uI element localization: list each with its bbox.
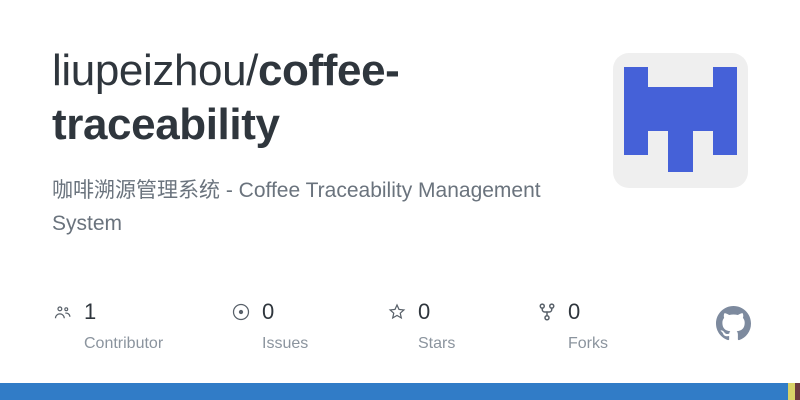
issue-opened-icon	[230, 301, 252, 323]
repo-forked-icon	[536, 301, 558, 323]
repo-owner: liupeizhou	[52, 46, 246, 95]
stat-stars: 0 Stars	[386, 298, 486, 353]
stat-issues-top: 0	[230, 298, 274, 326]
stat-forks-top: 0	[536, 298, 580, 326]
star-icon	[386, 301, 408, 323]
bottom-bar-primary-segment	[0, 383, 788, 400]
stat-contributors-value: 1	[84, 301, 96, 323]
repo-name-separator: /	[246, 46, 258, 95]
stat-stars-value: 0	[418, 301, 430, 323]
repo-stats: 1 Contributor 0 Issues	[52, 298, 626, 353]
avatar	[613, 53, 748, 188]
github-mark-icon	[716, 306, 751, 341]
page-title: liupeizhou/coffee-traceability	[52, 44, 597, 152]
bottom-bar-accent-segment	[788, 383, 795, 400]
bottom-accent-bar	[0, 383, 800, 400]
stat-forks-label: Forks	[568, 335, 608, 353]
stat-contributors: 1 Contributor	[52, 298, 180, 353]
stat-issues-label: Issues	[262, 335, 308, 353]
repository-social-preview-card: liupeizhou/coffee-traceability 咖啡溯源管理系统 …	[0, 0, 800, 400]
people-icon	[52, 301, 74, 323]
repo-description: 咖啡溯源管理系统 - Coffee Traceability Managemen…	[52, 174, 582, 240]
stat-issues-value: 0	[262, 301, 274, 323]
stat-stars-label: Stars	[418, 335, 455, 353]
stat-contributors-top: 1	[52, 298, 96, 326]
org-avatar-logo-icon	[613, 53, 748, 188]
stat-stars-top: 0	[386, 298, 430, 326]
stat-issues: 0 Issues	[230, 298, 336, 353]
bottom-bar-tail-segment	[795, 383, 800, 400]
stat-forks: 0 Forks	[536, 298, 626, 353]
title-block: liupeizhou/coffee-traceability 咖啡溯源管理系统 …	[52, 44, 597, 240]
stat-forks-value: 0	[568, 301, 580, 323]
stat-contributors-label: Contributor	[84, 335, 163, 353]
